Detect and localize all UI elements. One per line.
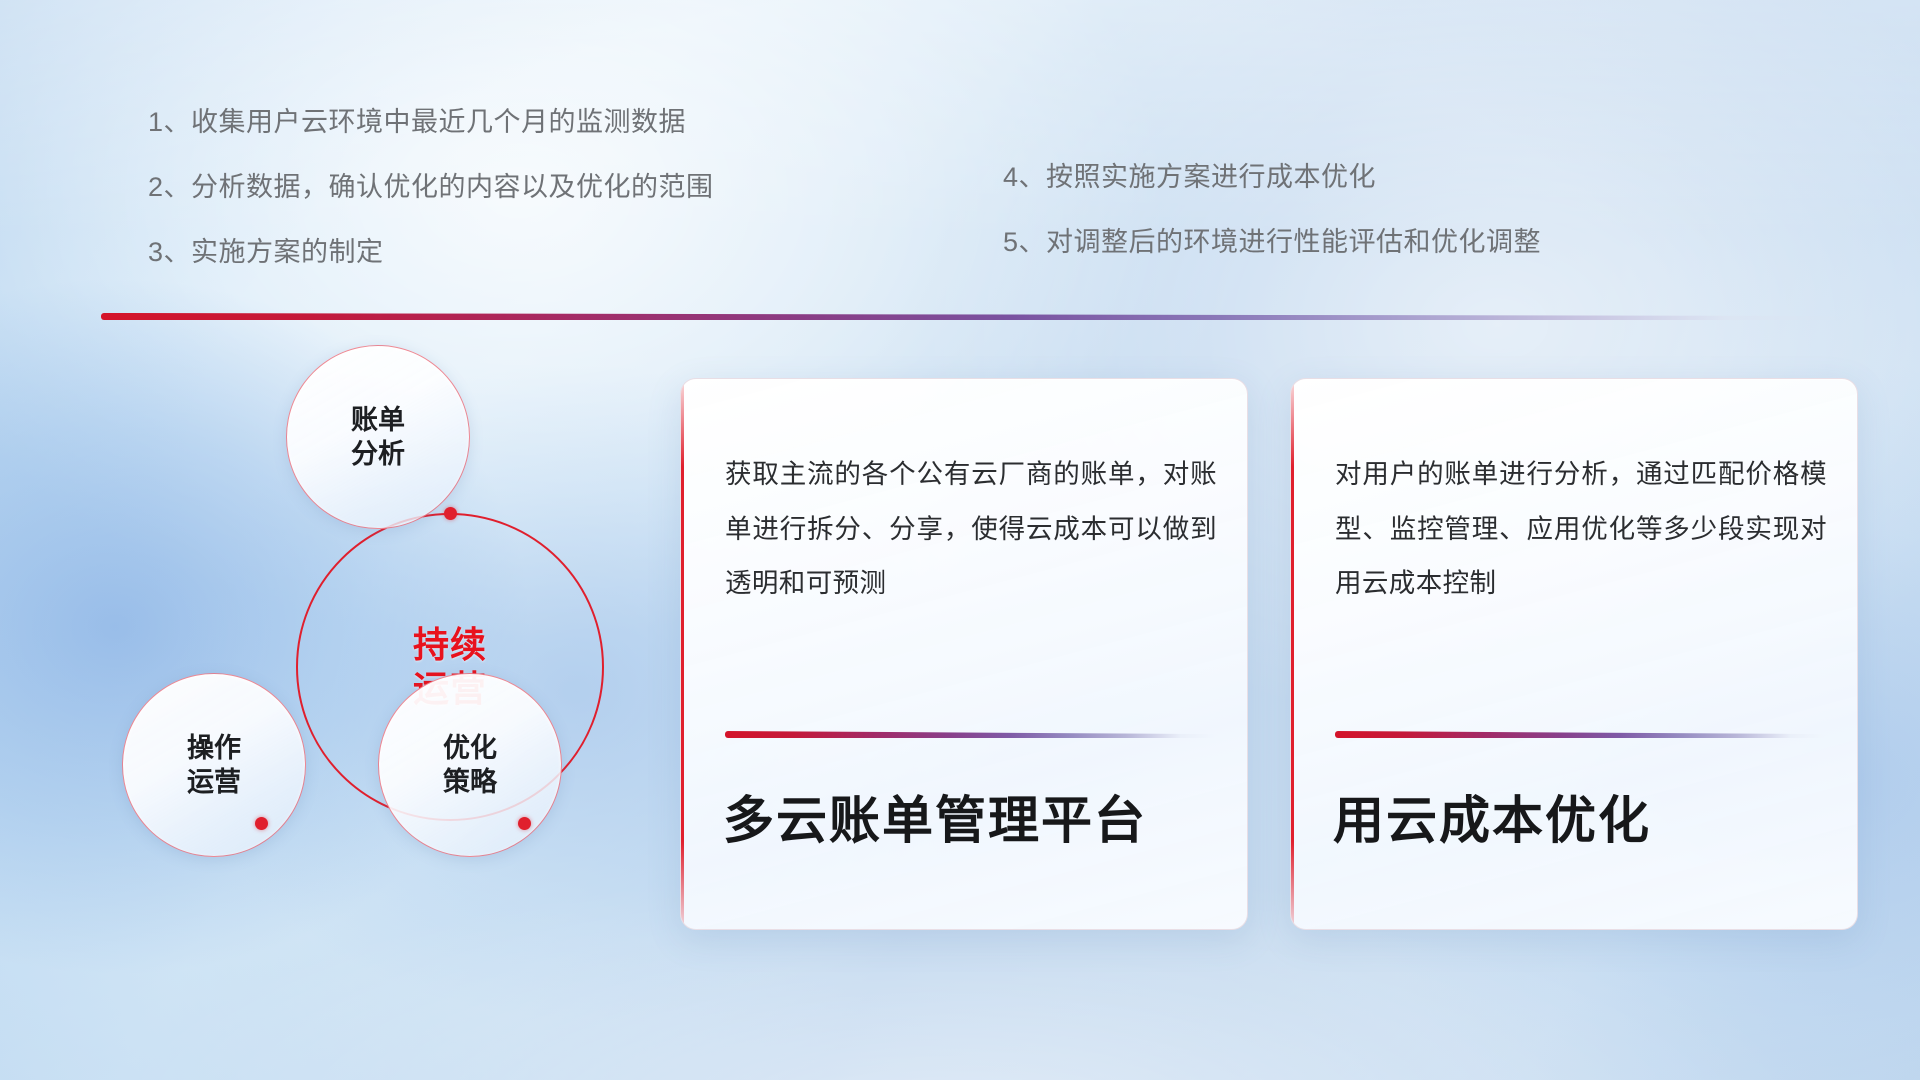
card-2-body: 对用户的账单进行分析，通过匹配价格模型、监控管理、应用优化等多少段实现对用云成本… [1335, 447, 1827, 611]
step-item-1: 1、收集用户云环境中最近几个月的监测数据 [148, 100, 714, 139]
step-item-5: 5、对调整后的环境进行性能评估和优化调整 [1003, 220, 1541, 259]
bubble-bill-analysis-line-1: 账单 [351, 403, 405, 437]
steps-right-column: 4、按照实施方案进行成本优化 5、对调整后的环境进行性能评估和优化调整 [1003, 155, 1541, 285]
bubble-bill-analysis-line-2: 分析 [351, 437, 405, 471]
card-2-divider [1335, 731, 1825, 738]
card-1-body: 获取主流的各个公有云厂商的账单，对账单进行拆分、分享，使得云成本可以做到透明和可… [725, 447, 1217, 611]
bubble-optimization-policy-line-1: 优化 [443, 731, 497, 765]
card-multi-cloud-billing-platform[interactable]: 获取主流的各个公有云厂商的账单，对账单进行拆分、分享，使得云成本可以做到透明和可… [680, 378, 1248, 930]
card-2-title: 用云成本优化 [1333, 779, 1651, 853]
bubble-operation-running[interactable]: 操作 运营 [122, 673, 306, 857]
card-cloud-cost-optimization[interactable]: 对用户的账单进行分析，通过匹配价格模型、监控管理、应用优化等多少段实现对用云成本… [1290, 378, 1858, 930]
card-1-divider [725, 731, 1215, 738]
bubble-operation-running-line-2: 运营 [187, 765, 241, 799]
steps-left-column: 1、收集用户云环境中最近几个月的监测数据 2、分析数据，确认优化的内容以及优化的… [148, 100, 714, 295]
section-divider-rule [101, 313, 1849, 320]
slide-content: 1、收集用户云环境中最近几个月的监测数据 2、分析数据，确认优化的内容以及优化的… [0, 0, 1920, 1080]
step-item-3: 3、实施方案的制定 [148, 230, 714, 269]
bubble-bill-analysis[interactable]: 账单 分析 [286, 345, 470, 529]
step-item-4: 4、按照实施方案进行成本优化 [1003, 155, 1541, 194]
continuous-operation-diagram: 持续 运营 账单 分析 操作 运营 优化 策略 [100, 355, 630, 945]
bubble-optimization-policy[interactable]: 优化 策略 [378, 673, 562, 857]
bubble-optimization-policy-line-2: 策略 [443, 765, 497, 799]
bubble-operation-running-line-1: 操作 [187, 731, 241, 765]
node-dot-left-icon [255, 817, 268, 830]
node-dot-top-icon [444, 507, 457, 520]
center-label-line-1: 持续 [413, 623, 487, 667]
node-dot-right-icon [518, 817, 531, 830]
card-1-title: 多云账单管理平台 [723, 779, 1147, 853]
step-item-2: 2、分析数据，确认优化的内容以及优化的范围 [148, 165, 714, 204]
